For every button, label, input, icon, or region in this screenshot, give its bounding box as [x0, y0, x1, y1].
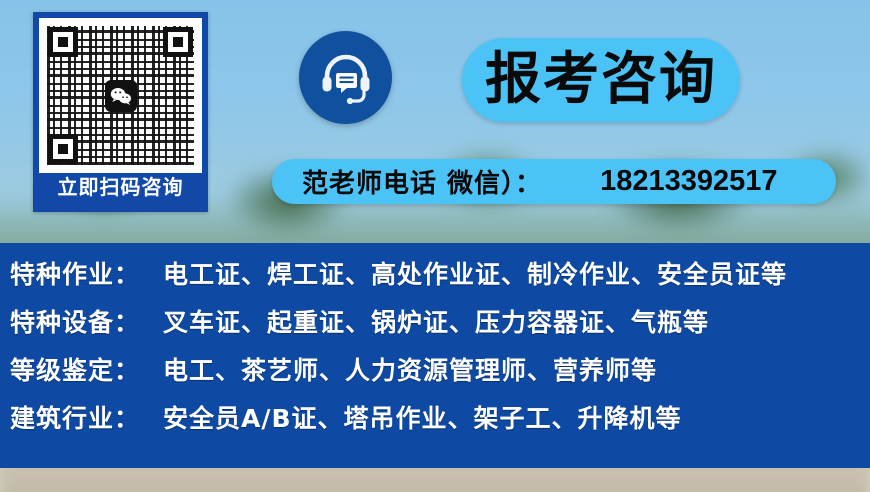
category-label: 特种设备：: [10, 303, 140, 339]
category-label: 特种作业：: [10, 255, 140, 291]
background-bottom-strip-inner: [0, 468, 870, 492]
certificate-categories-panel: 特种作业： 电工证、焊工证、高处作业证、制冷作业、安全员证等 特种设备： 叉车证…: [0, 243, 870, 468]
category-row-construction-industry: 建筑行业： 安全员A/B证、塔吊作业、架子工、升降机等: [0, 399, 870, 447]
qr-code-image[interactable]: [39, 18, 202, 173]
headset-chat-icon: [299, 31, 392, 124]
wechat-icon: [105, 80, 137, 112]
background-bottom-strip: [0, 468, 870, 492]
advertisement-banner: 立即扫码咨询 报考咨询 范老师电话 微信）： 18213392517 特种作业：…: [0, 0, 870, 492]
category-row-grade-certification: 等级鉴定： 电工、茶艺师、人力资源管理师、营养师等: [0, 351, 870, 399]
qr-code-card[interactable]: 立即扫码咨询: [33, 12, 208, 212]
qr-caption: 立即扫码咨询: [36, 169, 205, 207]
contact-phone-pill[interactable]: 范老师电话 微信）： 18213392517: [272, 159, 836, 204]
category-items: 安全员A/B证、塔吊作业、架子工、升降机等: [163, 399, 682, 435]
contact-phone-number[interactable]: 18213392517: [600, 165, 777, 198]
category-row-special-operations: 特种作业： 电工证、焊工证、高处作业证、制冷作业、安全员证等: [0, 255, 870, 303]
category-row-special-equipment: 特种设备： 叉车证、起重证、锅炉证、压力容器证、气瓶等: [0, 303, 870, 351]
category-label: 等级鉴定：: [10, 351, 140, 387]
qr-finder-top-left: [48, 27, 78, 57]
category-items: 电工证、焊工证、高处作业证、制冷作业、安全员证等: [163, 255, 787, 291]
qr-finder-top-right: [163, 27, 193, 57]
category-items: 电工、茶艺师、人力资源管理师、营养师等: [163, 351, 657, 387]
qr-finder-bottom-left: [48, 134, 78, 164]
category-items: 叉车证、起重证、锅炉证、压力容器证、气瓶等: [163, 303, 709, 339]
page-title: 报考咨询: [485, 52, 717, 108]
category-label: 建筑行业：: [10, 399, 140, 435]
consultation-title-pill: 报考咨询: [462, 38, 740, 122]
contact-label: 范老师电话 微信）：: [302, 163, 542, 200]
